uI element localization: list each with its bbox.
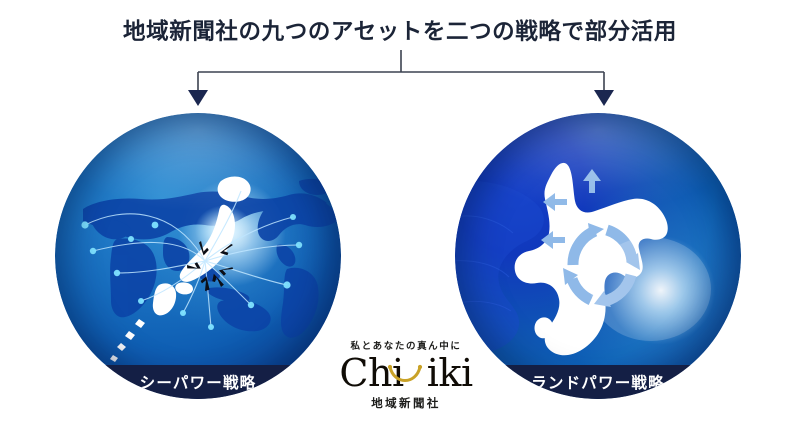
panel-label-sea-power: シーパワー戦略 [140,371,257,393]
panel-sea-power[interactable]: シーパワー戦略 [55,113,341,399]
panel-label-land-power: ランドパワー戦略 [531,371,665,393]
arrow-down-left-icon [188,90,208,106]
logo-wordmark-left: Chi [339,351,403,395]
arrow-down-right-icon [594,90,614,106]
logo-wordmark: Chi iki [330,353,482,393]
page-title: 地域新聞社の九つのアセットを二つの戦略で部分活用 [0,18,800,45]
logo-wordmark-right: iki [427,351,473,395]
logo-tagline: 私とあなたの真ん中に [330,338,482,352]
logo-company-name: 地域新聞社 [330,395,482,411]
panel-label-band-sea: シーパワー戦略 [55,365,341,399]
panel-land-power[interactable]: ランドパワー戦略 [455,113,741,399]
brand-logo[interactable]: 私とあなたの真ん中に Chi iki 地域新聞社 [330,338,482,411]
bracket-connector [0,50,800,112]
world-map-japan-centered-icon [55,113,341,399]
chiba-prefecture-map-icon [455,113,741,399]
panel-label-band-land: ランドパワー戦略 [455,365,741,399]
